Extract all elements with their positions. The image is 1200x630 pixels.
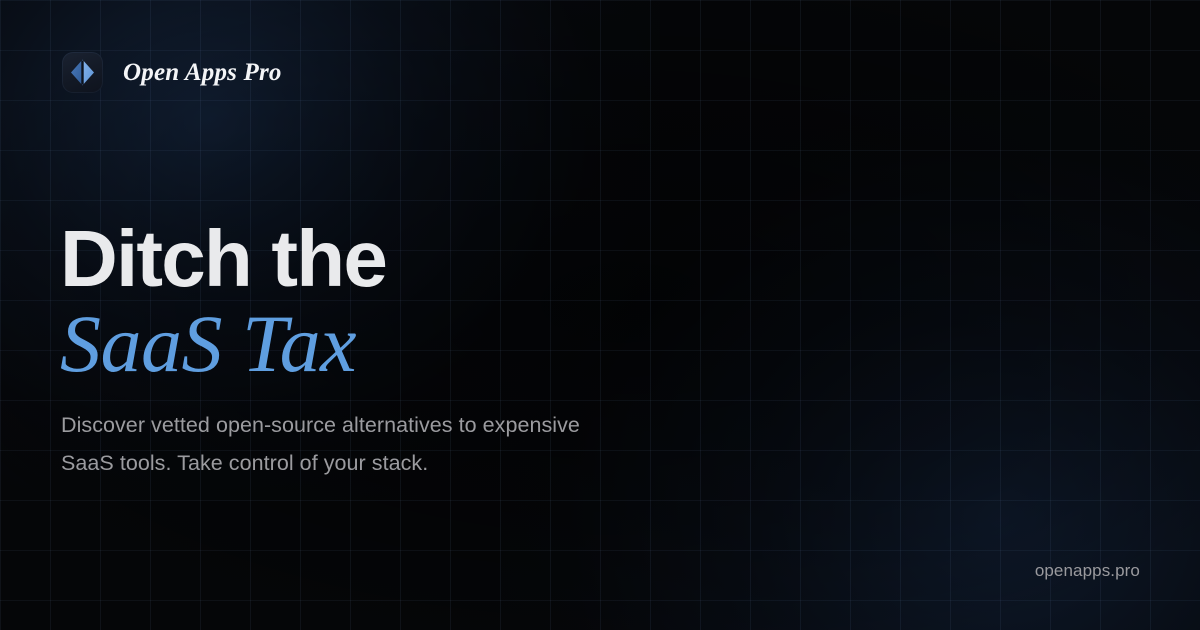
headline-line-1: Ditch the (60, 218, 860, 300)
brand-name: Open Apps Pro (123, 59, 282, 87)
diamond-split-icon (69, 59, 96, 86)
card-content: Open Apps Pro Ditch the SaaS Tax Discove… (0, 0, 1200, 630)
subtitle-line-1: Discover vetted open-source alternatives… (61, 406, 761, 444)
headline-line-2: SaaS Tax (60, 300, 860, 388)
brand-lockup[interactable]: Open Apps Pro (62, 52, 282, 93)
subtitle: Discover vetted open-source alternatives… (61, 406, 761, 482)
headline: Ditch the SaaS Tax (60, 218, 860, 388)
logo-tile (62, 52, 103, 93)
social-card: Open Apps Pro Ditch the SaaS Tax Discove… (0, 0, 1200, 630)
footer-url[interactable]: openapps.pro (1035, 561, 1140, 581)
subtitle-line-2: SaaS tools. Take control of your stack. (61, 444, 761, 482)
